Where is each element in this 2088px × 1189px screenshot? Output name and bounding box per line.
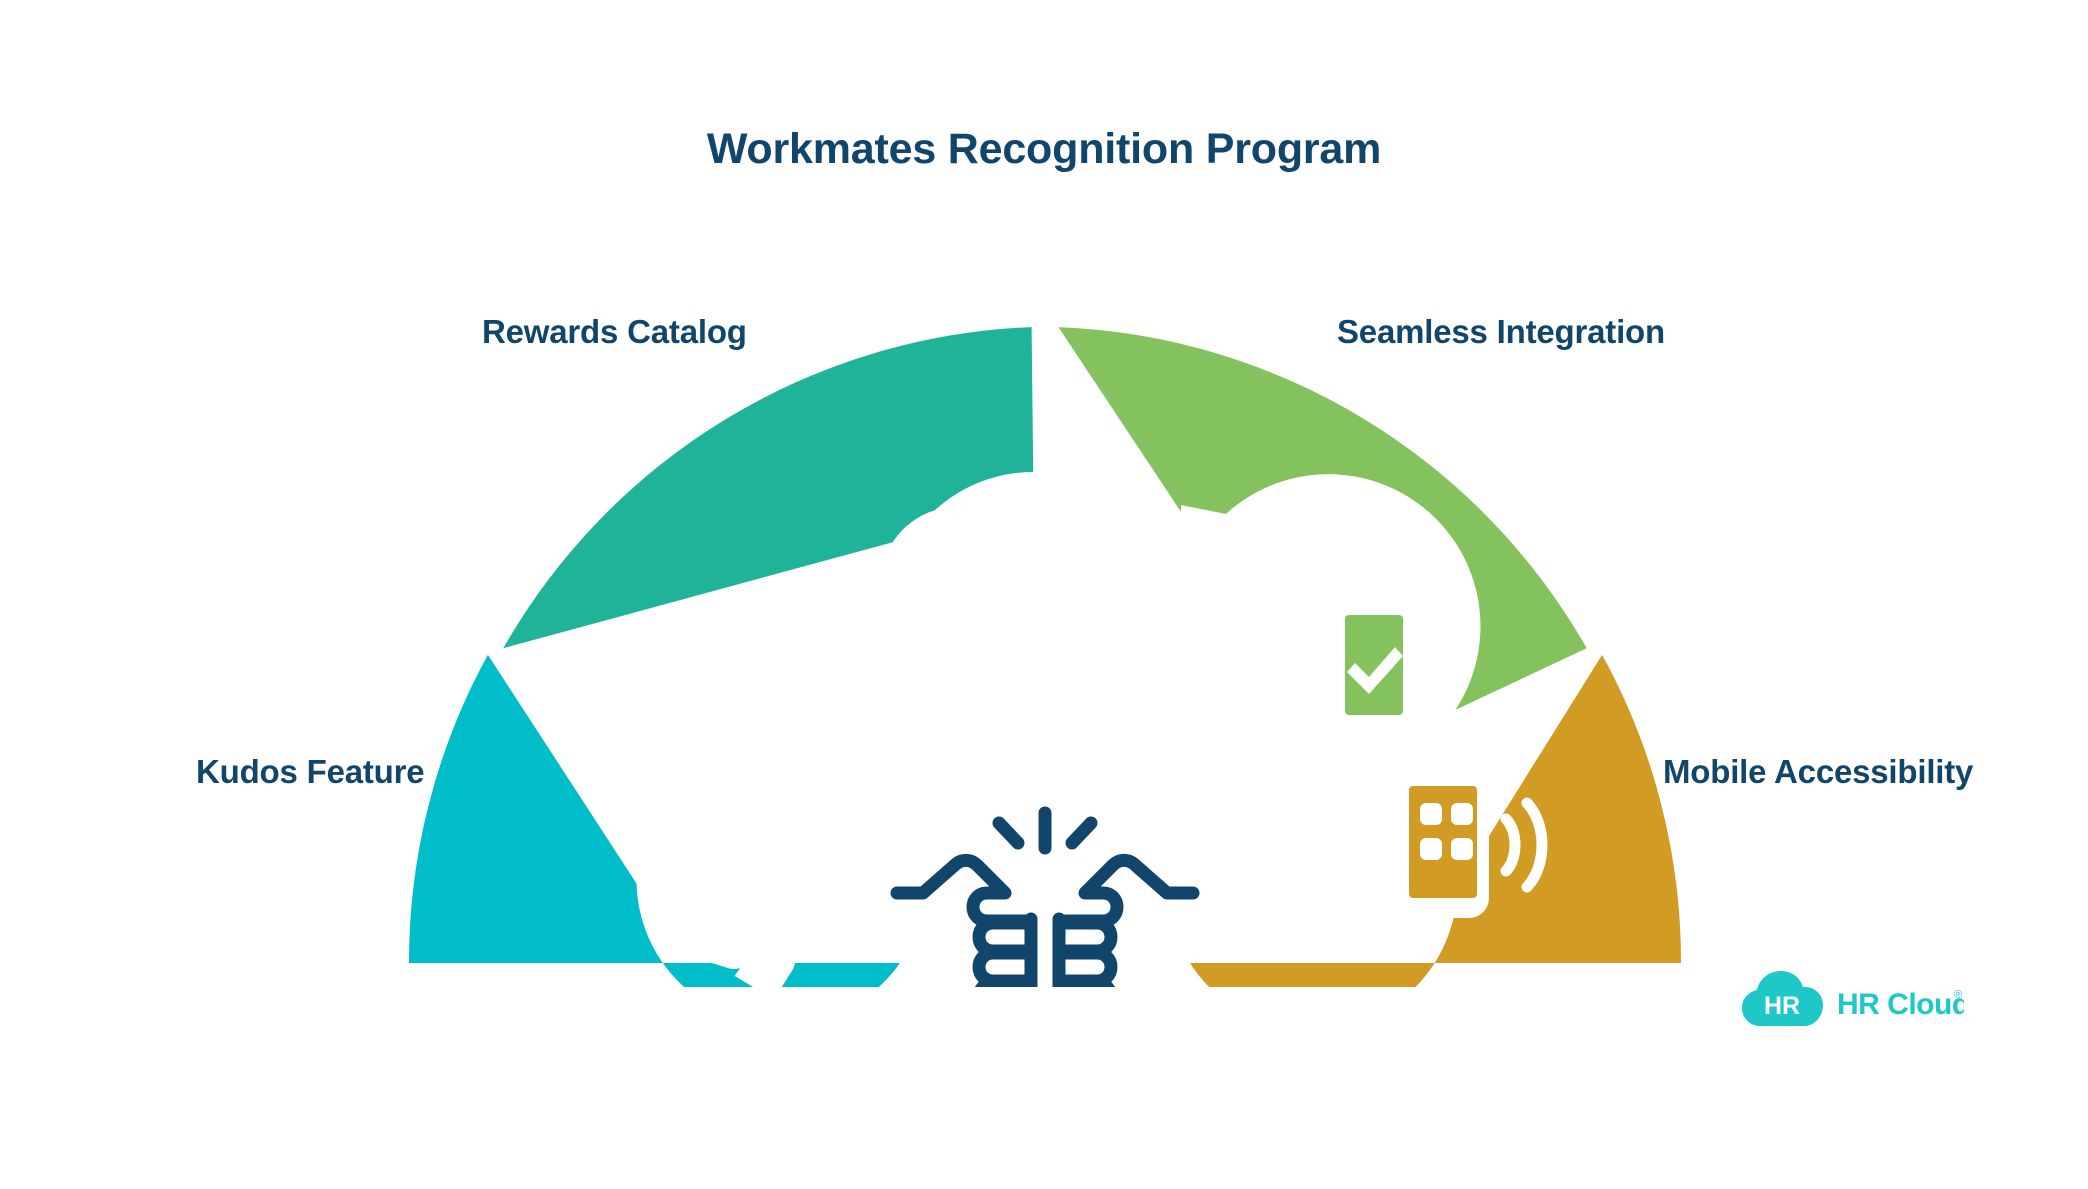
logo-badge-text: HR	[1764, 992, 1800, 1020]
infographic-canvas: Workmates Recognition Program Rewards Ca…	[0, 0, 2088, 1189]
segment-arc-seamless[interactable]	[1058, 327, 1586, 710]
page-title: Workmates Recognition Program	[0, 125, 2088, 174]
hr-cloud-logo-icon: HR	[1742, 971, 1823, 1026]
hr-cloud-logo[interactable]: HR HR Cloud ®	[1742, 970, 1964, 1032]
award-medal-star-icon	[881, 507, 1033, 715]
logo-trademark: ®	[1954, 989, 1962, 1001]
segment-label-mobile: Mobile Accessibility	[1663, 753, 1973, 791]
sync-folder-phone-icon	[1181, 505, 1415, 733]
semicircle-chart	[409, 327, 1681, 987]
fist-bump-icon	[897, 813, 1193, 987]
segment-label-kudos: Kudos Feature	[196, 753, 424, 791]
logo-wordmark: HR Cloud	[1837, 988, 1964, 1021]
